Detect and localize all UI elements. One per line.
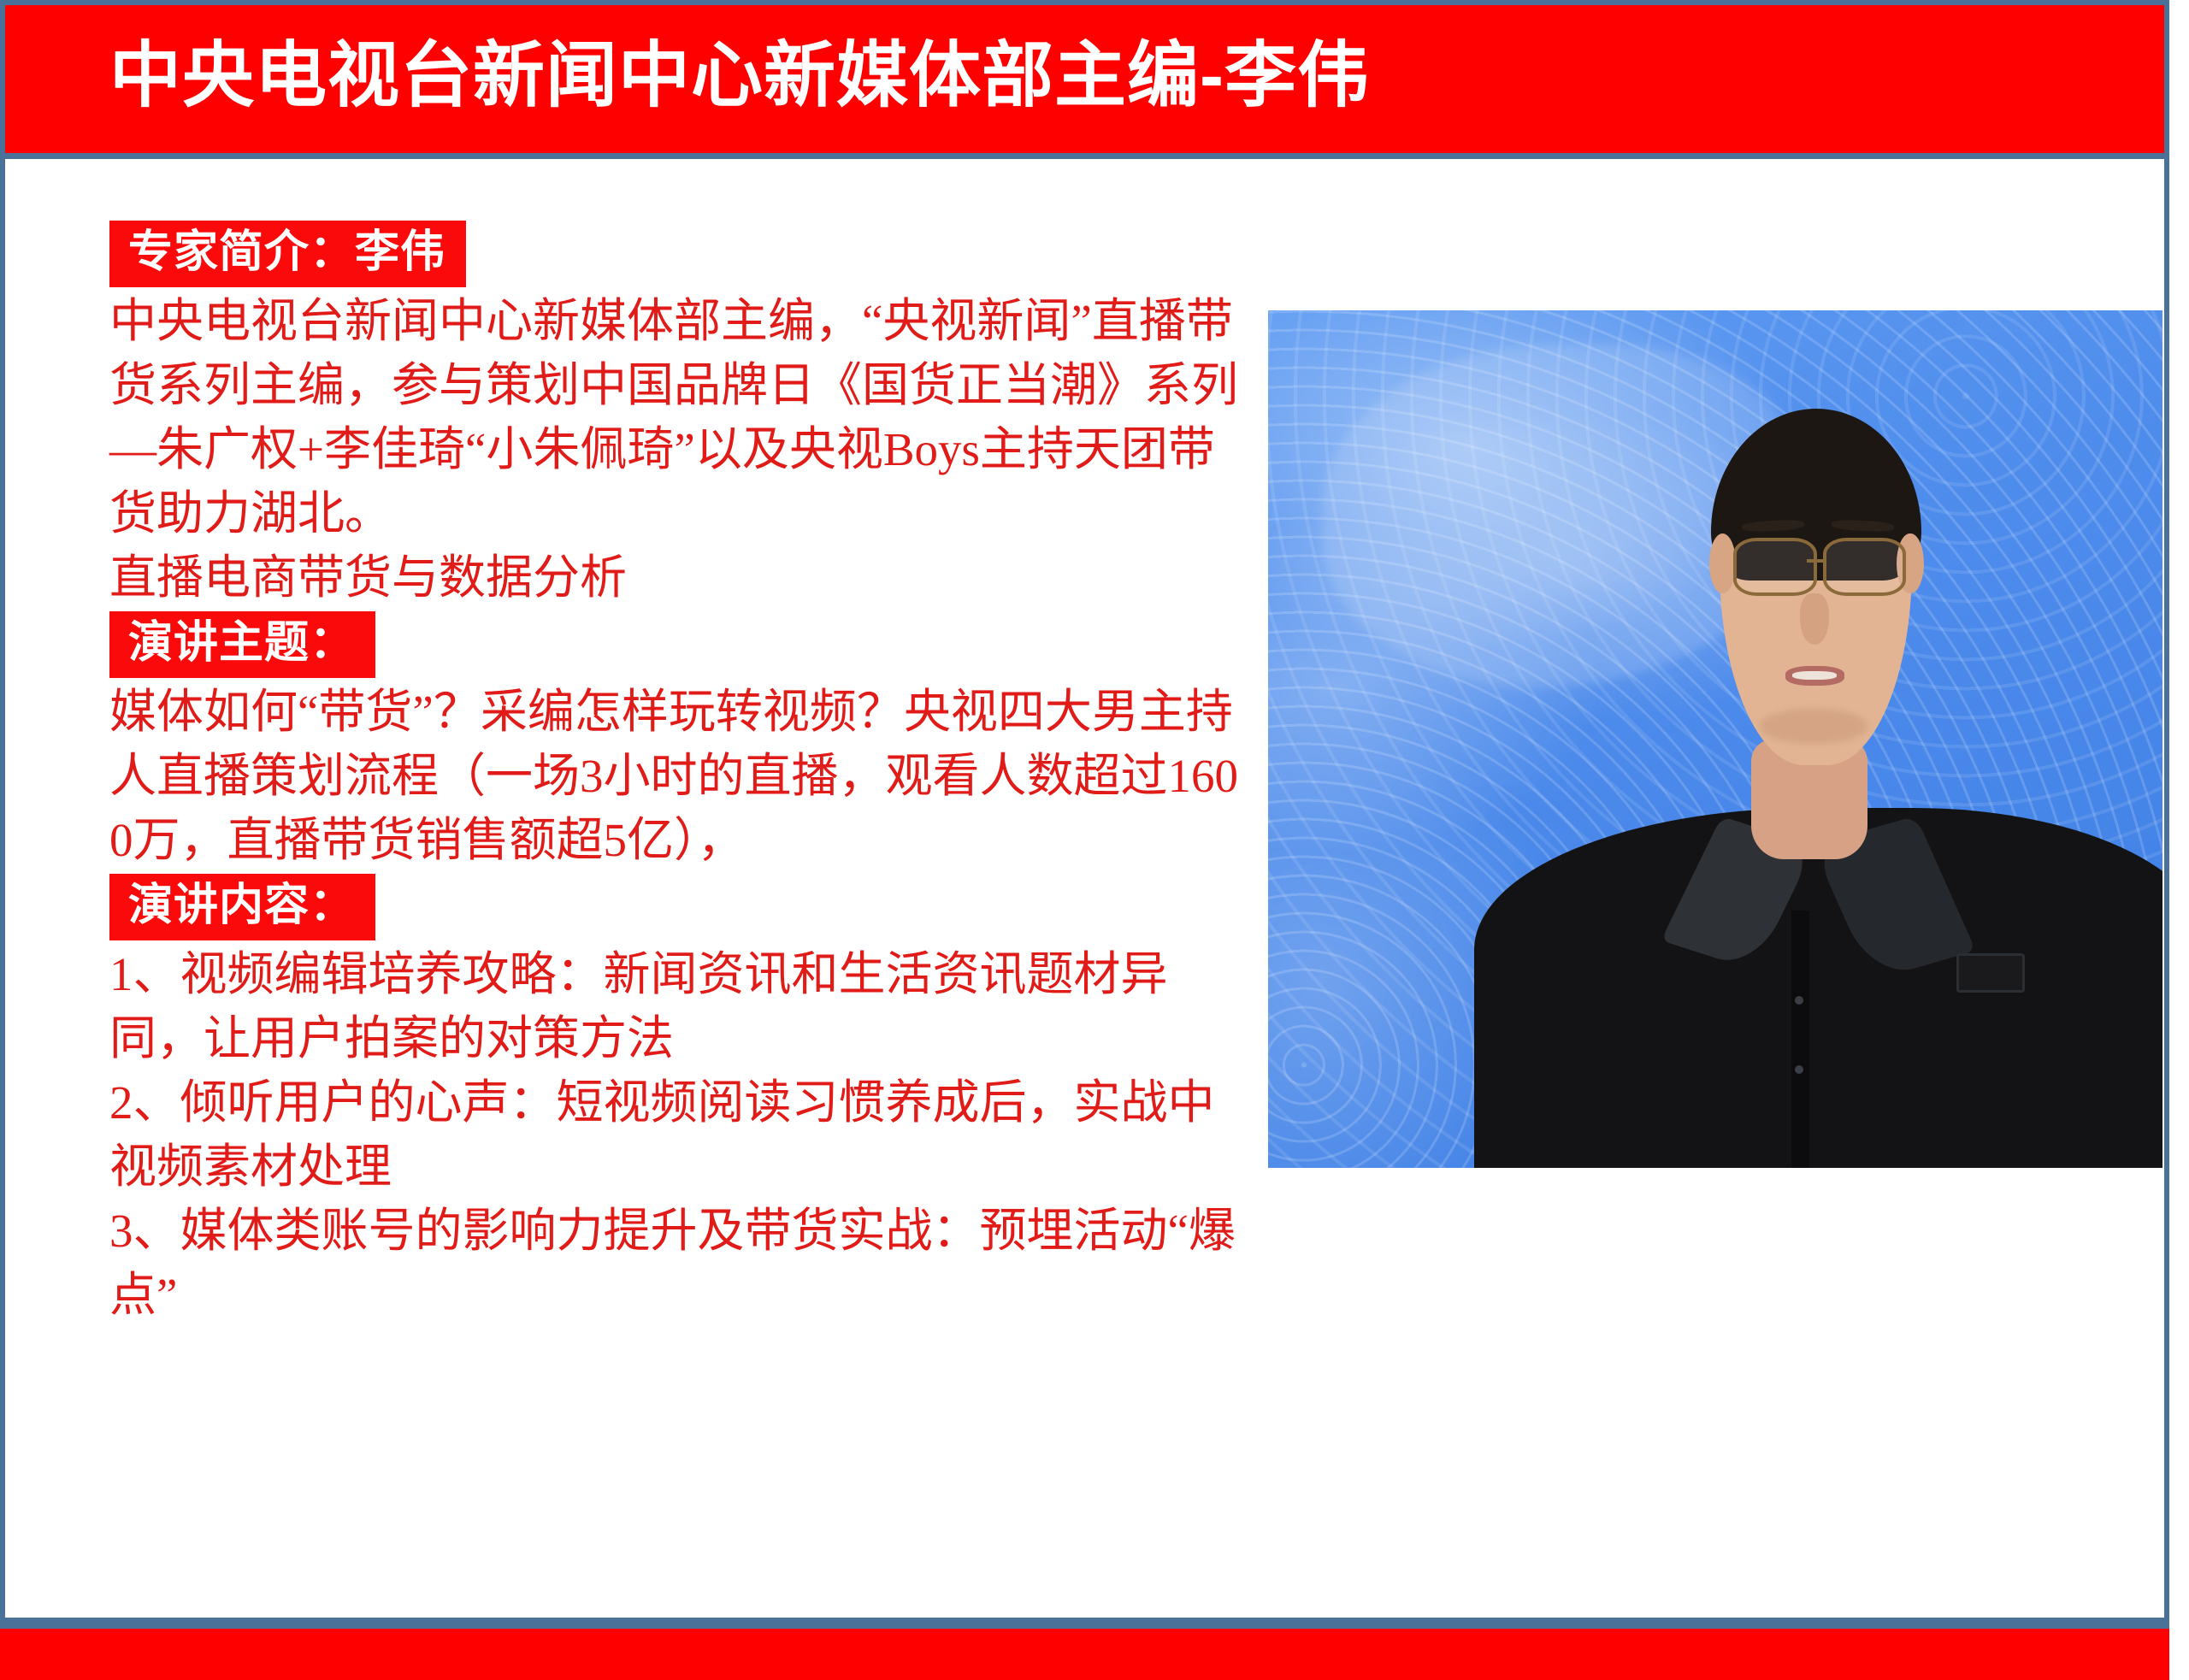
text-column: 专家简介：李伟 中央电视台新闻中心新媒体部主编，“央视新闻”直播带货系列主编，参… (109, 221, 1247, 1327)
bio-paragraph-1: 中央电视台新闻中心新媒体部主编，“央视新闻”直播带货系列主编，参与策划中国品牌日… (109, 289, 1247, 545)
bio-badge-row: 专家简介：李伟 (109, 221, 1247, 287)
figure-shirt-pocket (1956, 953, 2024, 993)
slide-footer-band (0, 1623, 2169, 1680)
bio-paragraph-2: 直播电商带货与数据分析 (109, 545, 1247, 610)
figure-ear-left (1709, 533, 1736, 593)
figure-shirt-button (1795, 1065, 1803, 1074)
figure-shirt-placket (1791, 911, 1809, 1168)
figure-nose (1800, 593, 1828, 645)
portrait-figure (1268, 310, 2162, 1168)
topic-section-badge: 演讲主题： (109, 611, 375, 678)
figure-glasses-lens-left (1733, 538, 1817, 596)
speaker-portrait-photo (1268, 310, 2162, 1168)
figure-glasses-lens-right (1823, 538, 1907, 596)
figure-glasses-bridge (1807, 559, 1826, 563)
content-item-2: 2、倾听用户的心声：短视频阅读习惯养成后，实战中视频素材处理 (109, 1070, 1247, 1199)
topic-paragraph-1: 媒体如何“带货”？采编怎样玩转视频？央视四大男主持人直播策划流程（一场3小时的直… (109, 680, 1247, 872)
topic-badge-row: 演讲主题： (109, 611, 1247, 678)
slide-header-band: 中央电视台新闻中心新媒体部主编-李伟 (0, 0, 2169, 159)
figure-chin-shadow (1760, 709, 1867, 743)
content-item-1: 1、视频编辑培养攻略：新闻资讯和生活资讯题材异同，让用户拍案的对策方法 (109, 942, 1247, 1070)
content-section-badge: 演讲内容： (109, 874, 375, 940)
slide-root: 中央电视台新闻中心新媒体部主编-李伟 专家简介：李伟 中央电视台新闻中心新媒体部… (0, 0, 2189, 1680)
slide-content-area: 专家简介：李伟 中央电视台新闻中心新媒体部主编，“央视新闻”直播带货系列主编，参… (0, 159, 2169, 1623)
bio-section-badge: 专家简介：李伟 (109, 221, 466, 287)
figure-torso (1474, 808, 2162, 1168)
page-title: 中央电视台新闻中心新媒体部主编-李伟 (109, 26, 1370, 125)
content-badge-row: 演讲内容： (109, 874, 1247, 940)
figure-teeth (1792, 671, 1837, 680)
content-item-3: 3、媒体类账号的影响力提升及带货实战：预埋活动“爆点” (109, 1199, 1247, 1327)
